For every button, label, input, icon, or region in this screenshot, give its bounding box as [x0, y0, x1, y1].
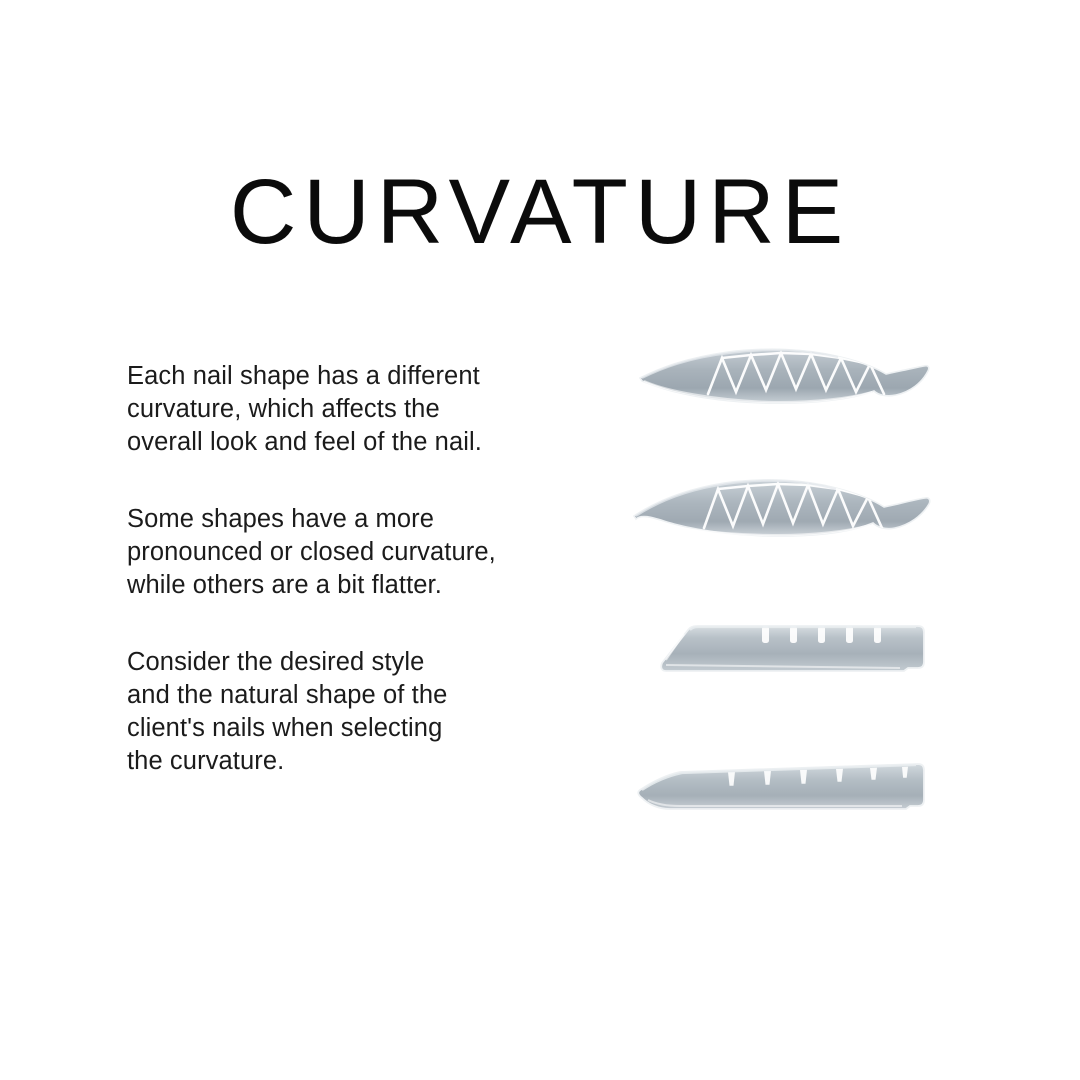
nail-form-flat-icon	[618, 608, 948, 698]
body-copy: Each nail shape has a different curvatur…	[127, 360, 597, 778]
paragraph-1-line-2: curvature, which affects the	[127, 393, 597, 426]
paragraph-2-line-3: while others are a bit flatter.	[127, 569, 597, 602]
paragraph-3-line-4: the curvature.	[127, 745, 597, 778]
paragraph-2-line-2: pronounced or closed curvature,	[127, 536, 597, 569]
nail-form-flat	[618, 608, 948, 698]
page-title: CURVATURE	[0, 166, 1080, 258]
paragraph-2-line-1: Some shapes have a more	[127, 503, 597, 536]
nail-form-curved-icon	[618, 470, 948, 560]
paragraph-1: Each nail shape has a different curvatur…	[127, 360, 597, 459]
nail-form-tapered	[618, 748, 948, 838]
nail-form-tapered-icon	[618, 748, 948, 838]
paragraph-3-line-2: and the natural shape of the	[127, 679, 597, 712]
nail-form-illustrations	[618, 330, 948, 850]
nail-form-curved-deep	[618, 338, 948, 428]
nail-form-curved-icon	[618, 338, 948, 428]
paragraph-3: Consider the desired style and the natur…	[127, 646, 597, 778]
paragraph-2: Some shapes have a more pronounced or cl…	[127, 503, 597, 602]
nail-form-curved-medium	[618, 470, 948, 560]
slide-root: CURVATURE Each nail shape has a differen…	[0, 0, 1080, 1080]
paragraph-1-line-1: Each nail shape has a different	[127, 360, 597, 393]
paragraph-3-line-3: client's nails when selecting	[127, 712, 597, 745]
paragraph-1-line-3: overall look and feel of the nail.	[127, 426, 597, 459]
paragraph-3-line-1: Consider the desired style	[127, 646, 597, 679]
